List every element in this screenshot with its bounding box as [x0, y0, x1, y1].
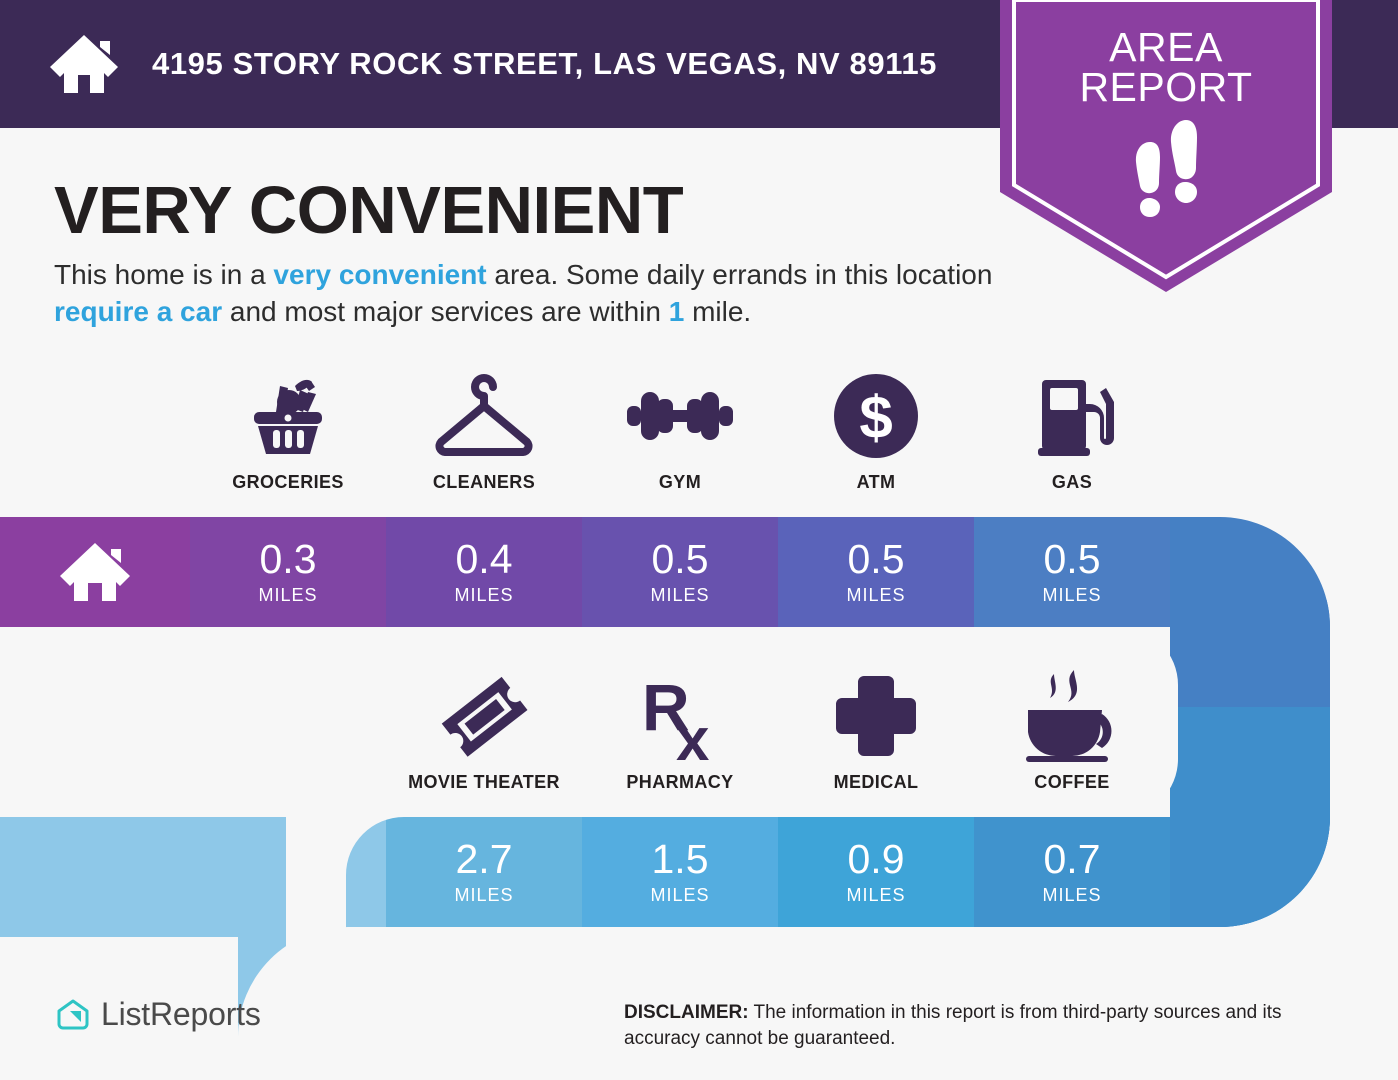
amenity-medical: MEDICAL	[778, 672, 974, 793]
amenity-groceries: GROCERIES	[190, 372, 386, 493]
svg-text:$: $	[859, 384, 892, 451]
amenity-label: MEDICAL	[834, 772, 919, 793]
clothes-hanger-icon	[429, 372, 539, 460]
disclaimer-label: DISCLAIMER:	[624, 1002, 749, 1023]
distance-cell-gas: 0.5 MILES	[974, 517, 1170, 627]
distance-unit: MILES	[650, 585, 709, 606]
amenity-icon-row-2: MOVIE THEATER R x PHARMACY MEDICAL	[386, 672, 1170, 793]
distance-value: 0.4	[456, 539, 513, 580]
amenity-label: COFFEE	[1034, 772, 1109, 793]
distance-unit: MILES	[1042, 585, 1101, 606]
disclaimer: DISCLAIMER: The information in this repo…	[624, 1000, 1342, 1051]
amenity-pharmacy: R x PHARMACY	[582, 672, 778, 793]
distance-row-1: 0.3 MILES 0.4 MILES 0.5 MILES 0.5 MILES …	[190, 517, 1170, 627]
amenity-cleaners: CLEANERS	[386, 372, 582, 493]
distance-unit: MILES	[846, 585, 905, 606]
dollar-circle-icon: $	[832, 372, 920, 460]
listreports-wordmark: ListReports	[101, 996, 261, 1033]
distance-cell-atm: 0.5 MILES	[778, 517, 974, 627]
area-report-badge: AREA REPORT	[1000, 0, 1332, 297]
distance-unit: MILES	[258, 585, 317, 606]
badge-text: AREA REPORT	[1000, 28, 1332, 108]
distance-value: 2.7	[456, 839, 513, 880]
amenity-label: GROCERIES	[232, 472, 344, 493]
distance-value: 0.5	[848, 539, 905, 580]
distance-cell-movie-theater: 2.7 MILES	[386, 817, 582, 927]
distance-cell-cleaners: 0.4 MILES	[386, 517, 582, 627]
distance-unit: MILES	[454, 885, 513, 906]
amenity-label: GYM	[659, 472, 701, 493]
movie-ticket-icon	[434, 672, 534, 760]
home-icon	[58, 540, 132, 604]
amenity-label: ATM	[857, 472, 896, 493]
distance-unit: MILES	[1042, 885, 1101, 906]
amenity-gym: GYM	[582, 372, 778, 493]
distance-value: 0.5	[1044, 539, 1101, 580]
amenity-label: CLEANERS	[433, 472, 535, 493]
svg-text:x: x	[676, 706, 709, 764]
amenity-icon-row-1: GROCERIES CLEANERS	[190, 372, 1170, 493]
listreports-logo-icon	[56, 998, 90, 1032]
amenity-coffee: COFFEE	[974, 672, 1170, 793]
badge-line-1: AREA	[1000, 28, 1332, 68]
amenity-gas: GAS	[974, 372, 1170, 493]
coffee-cup-icon	[1020, 672, 1124, 760]
distance-value: 0.3	[260, 539, 317, 580]
distance-cell-coffee: 0.7 MILES	[974, 817, 1170, 927]
distance-value: 0.9	[848, 839, 905, 880]
amenity-atm: $ ATM	[778, 372, 974, 493]
distance-cell-pharmacy: 1.5 MILES	[582, 817, 778, 927]
medical-cross-icon	[832, 672, 920, 760]
distance-value: 1.5	[652, 839, 709, 880]
distance-cell-groceries: 0.3 MILES	[190, 517, 386, 627]
grocery-basket-icon	[240, 372, 336, 460]
ribbon-left-blank	[0, 627, 290, 817]
rx-icon: R x	[632, 672, 728, 760]
distance-unit: MILES	[650, 885, 709, 906]
distance-value: 0.7	[1044, 839, 1101, 880]
dumbbell-icon	[625, 372, 735, 460]
distance-unit: MILES	[454, 585, 513, 606]
amenity-label: PHARMACY	[626, 772, 733, 793]
distance-unit: MILES	[846, 885, 905, 906]
badge-line-2: REPORT	[1000, 68, 1332, 108]
listreports-logo: ListReports	[56, 996, 261, 1033]
amenity-label: GAS	[1052, 472, 1092, 493]
distance-cell-gym: 0.5 MILES	[582, 517, 778, 627]
distance-row-2: 2.7 MILES 1.5 MILES 0.9 MILES 0.7 MILES	[386, 817, 1170, 927]
distance-value: 0.5	[652, 539, 709, 580]
home-marker-cell	[0, 517, 190, 627]
amenity-label: MOVIE THEATER	[408, 772, 560, 793]
amenity-movie-theater: MOVIE THEATER	[386, 672, 582, 793]
gas-pump-icon	[1026, 372, 1118, 460]
distance-cell-medical: 0.9 MILES	[778, 817, 974, 927]
